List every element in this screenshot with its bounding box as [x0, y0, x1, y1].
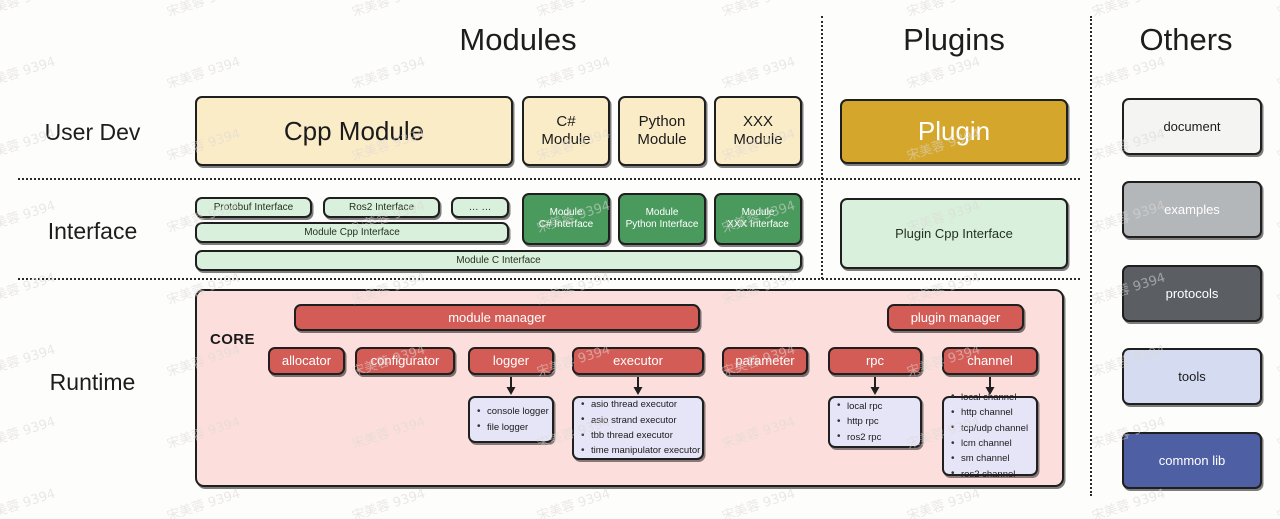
rpc-detail-list: local rpchttp rpcros2 rpc [836, 399, 912, 445]
watermark-text: 宋美蓉 9394 [0, 51, 57, 93]
python-module-box[interactable]: Python Module [618, 96, 706, 166]
watermark-text: 宋美蓉 9394 [1274, 0, 1280, 20]
detail-item: tbb thread executor [580, 428, 694, 443]
detail-item: tcp/udp channel [950, 421, 1028, 436]
watermark-text: 宋美蓉 9394 [904, 0, 982, 20]
others-item-common-lib[interactable]: common lib [1122, 432, 1262, 489]
csharp-module-box[interactable]: C# Module [522, 96, 610, 166]
component-executor[interactable]: executor [572, 347, 704, 375]
watermark-text: 宋美蓉 9394 [1274, 267, 1280, 309]
others-item-examples[interactable]: examples [1122, 181, 1262, 238]
protobuf-interface-box[interactable]: Protobuf Interface [195, 197, 312, 218]
watermark-text: 宋美蓉 9394 [349, 0, 427, 20]
watermark-text: 宋美蓉 9394 [719, 483, 797, 519]
column-header-plugins: Plugins [856, 22, 1052, 58]
detail-item: sm channel [950, 451, 1028, 466]
watermark-text: 宋美蓉 9394 [1274, 411, 1280, 453]
core-label: CORE [210, 331, 255, 348]
module-csharp-interface-box[interactable]: Module C# Interface [522, 193, 610, 245]
plugin-box[interactable]: Plugin [840, 99, 1068, 164]
column-header-others: Others [1092, 22, 1280, 58]
watermark-text: 宋美蓉 9394 [1089, 0, 1167, 20]
watermark-text: 宋美蓉 9394 [904, 483, 982, 519]
rpc-details: local rpchttp rpcros2 rpc [828, 396, 922, 448]
module-c-interface-box[interactable]: Module C Interface [195, 250, 802, 271]
detail-item: console logger [476, 404, 544, 419]
component-parameter[interactable]: parameter [722, 347, 808, 375]
watermark-text: 宋美蓉 9394 [1274, 339, 1280, 381]
watermark-text: 宋美蓉 9394 [0, 267, 57, 309]
more-interface-box[interactable]: … … [451, 197, 509, 218]
channel-details: local channelhttp channeltcp/udp channel… [942, 396, 1038, 476]
detail-item: time manipulator executor [580, 443, 694, 458]
module-manager-box[interactable]: module manager [294, 304, 700, 331]
module-cpp-interface-box[interactable]: Module Cpp Interface [195, 222, 509, 243]
divider-user-dev-interface [18, 178, 1080, 180]
detail-item: ros2 channel [950, 467, 1028, 482]
detail-item: asio strand executor [580, 413, 694, 428]
component-configurator[interactable]: configurator [355, 347, 455, 375]
detail-item: http rpc [836, 414, 912, 429]
detail-item: file logger [476, 420, 544, 435]
watermark-text: 宋美蓉 9394 [164, 51, 242, 93]
watermark-text: 宋美蓉 9394 [534, 483, 612, 519]
column-header-modules: Modules [420, 22, 616, 58]
detail-item: local channel [950, 390, 1028, 405]
detail-item: local rpc [836, 399, 912, 414]
detail-item: lcm channel [950, 436, 1028, 451]
row-label-runtime: Runtime [10, 369, 175, 396]
arrow-rpc-icon [867, 377, 883, 395]
module-xxx-interface-box[interactable]: Module XXX Interface [714, 193, 802, 245]
watermark-text: 宋美蓉 9394 [0, 0, 57, 20]
plugin-cpp-interface-box[interactable]: Plugin Cpp Interface [840, 198, 1068, 269]
xxx-module-box[interactable]: XXX Module [714, 96, 802, 166]
watermark-text: 宋美蓉 9394 [719, 0, 797, 20]
watermark-text: 宋美蓉 9394 [1274, 483, 1280, 519]
row-label-user-dev: User Dev [10, 119, 175, 146]
others-item-document[interactable]: document [1122, 98, 1262, 155]
watermark-text: 宋美蓉 9394 [1274, 123, 1280, 165]
component-rpc[interactable]: rpc [828, 347, 922, 375]
row-label-interface: Interface [10, 218, 175, 245]
watermark-text: 宋美蓉 9394 [164, 0, 242, 20]
watermark-text: 宋美蓉 9394 [349, 51, 427, 93]
cpp-module-box[interactable]: Cpp Module [195, 96, 513, 166]
divider-plugins-others [1090, 16, 1092, 496]
component-channel[interactable]: channel [942, 347, 1038, 375]
logger-detail-list: console loggerfile logger [476, 404, 544, 435]
watermark-text: 宋美蓉 9394 [1274, 195, 1280, 237]
watermark-text: 宋美蓉 9394 [164, 483, 242, 519]
component-logger[interactable]: logger [468, 347, 554, 375]
executor-details: asio thread executorasio strand executor… [572, 396, 704, 460]
arrow-logger-icon [503, 377, 519, 395]
ros2-interface-box[interactable]: Ros2 Interface [323, 197, 440, 218]
plugin-manager-box[interactable]: plugin manager [887, 304, 1024, 331]
watermark-text: 宋美蓉 9394 [534, 0, 612, 20]
module-python-interface-box[interactable]: Module Python Interface [618, 193, 706, 245]
watermark-text: 宋美蓉 9394 [0, 483, 57, 519]
detail-item: ros2 rpc [836, 430, 912, 445]
arrow-executor-icon [630, 377, 646, 395]
watermark-text: 宋美蓉 9394 [349, 483, 427, 519]
logger-details: console loggerfile logger [468, 396, 554, 443]
divider-interface-runtime [18, 278, 1080, 280]
channel-detail-list: local channelhttp channeltcp/udp channel… [950, 390, 1028, 482]
component-allocator[interactable]: allocator [268, 347, 345, 375]
executor-detail-list: asio thread executorasio strand executor… [580, 397, 694, 459]
detail-item: asio thread executor [580, 397, 694, 412]
others-item-protocols[interactable]: protocols [1122, 265, 1262, 322]
detail-item: http channel [950, 405, 1028, 420]
divider-modules-plugins [821, 16, 823, 279]
others-item-tools[interactable]: tools [1122, 348, 1262, 405]
watermark-text: 宋美蓉 9394 [0, 411, 57, 453]
watermark-text: 宋美蓉 9394 [719, 51, 797, 93]
